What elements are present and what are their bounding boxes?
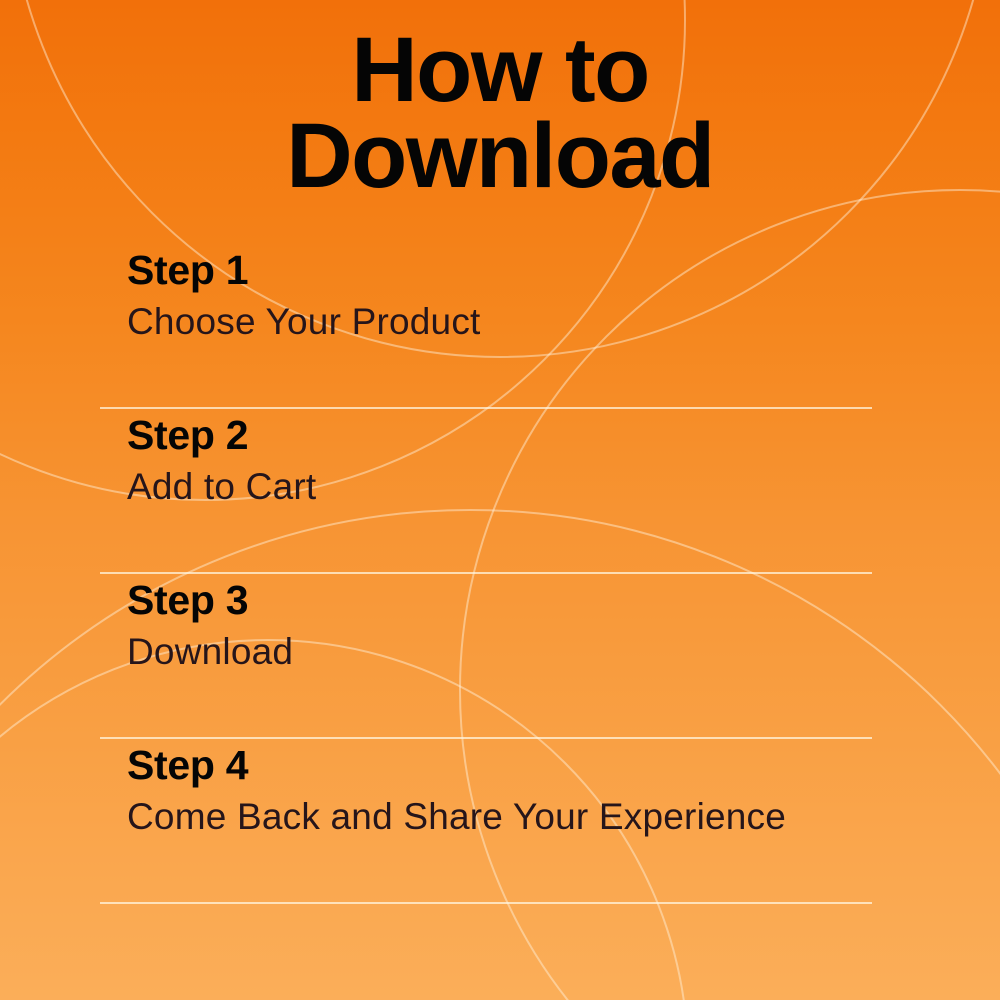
step-description: Add to Cart xyxy=(127,468,316,505)
how-to-download-poster: How to Download Step 1 Choose Your Produ… xyxy=(0,0,1000,1000)
page-title: How to Download xyxy=(0,28,1000,199)
list-item: Step 3 Download xyxy=(100,574,872,739)
list-item: Step 1 Choose Your Product xyxy=(100,244,872,409)
step-description: Choose Your Product xyxy=(127,303,481,340)
poster-content: How to Download Step 1 Choose Your Produ… xyxy=(0,0,1000,1000)
list-item: Step 2 Add to Cart xyxy=(100,409,872,574)
step-description: Download xyxy=(127,633,293,670)
step-label: Step 4 xyxy=(127,745,248,786)
step-description: Come Back and Share Your Experience xyxy=(127,798,786,835)
list-item: Step 4 Come Back and Share Your Experien… xyxy=(100,739,872,904)
steps-list: Step 1 Choose Your Product Step 2 Add to… xyxy=(100,244,872,904)
step-divider xyxy=(100,902,872,904)
step-label: Step 3 xyxy=(127,580,248,621)
step-label: Step 2 xyxy=(127,415,248,456)
step-label: Step 1 xyxy=(127,250,248,291)
